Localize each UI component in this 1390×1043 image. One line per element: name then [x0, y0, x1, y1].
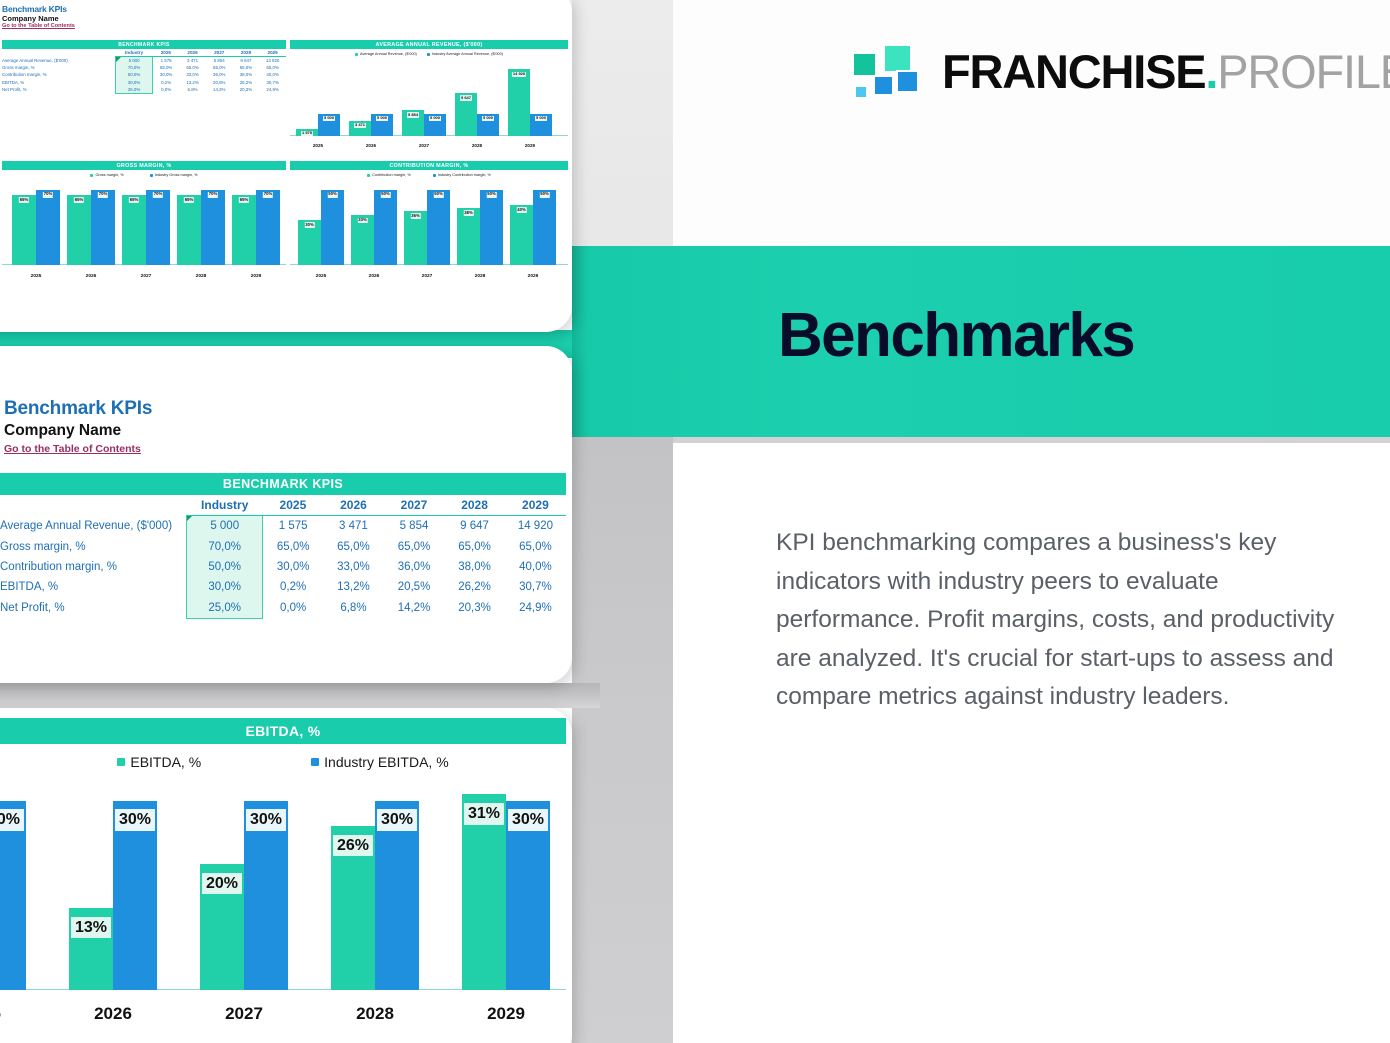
table-col-header-industry: Industry [116, 49, 153, 57]
table-cell-2025: 65,0% [263, 536, 324, 556]
chart-bar-company: 33% [351, 215, 374, 265]
table-col-header-2025: 2025 [153, 49, 180, 57]
chart-value-label: 50% [486, 192, 496, 198]
table-col-header-blank [2, 49, 116, 57]
legend-item-gross-industry: Industry Gross margin, % [150, 173, 198, 177]
chart-bar-company: 3 471 [349, 121, 371, 137]
table-cell-2028: 9 647 [233, 57, 260, 65]
body-paragraph: KPI benchmarking compares a business's k… [776, 524, 1348, 717]
table-cell-industry: 50,0% [187, 557, 263, 577]
sheet-subtitle: Company Name [4, 422, 152, 440]
background-white-right [673, 0, 1390, 246]
table-col-header-2027: 2027 [384, 495, 445, 516]
chart-category-label: 2027 [200, 1004, 288, 1024]
chart-value-label: 40% [516, 207, 526, 213]
chart-value-label: 38% [463, 210, 473, 216]
table-header-row: Industry20252026202720282029 [2, 49, 286, 57]
chart-bar-group: 30%50% [298, 181, 344, 265]
table-cell-2029: 24,9% [505, 598, 566, 619]
chart-bar-company: 14 920 [508, 69, 530, 136]
chart-bar-industry: 70% [91, 190, 115, 266]
chart-bar-company: 38% [457, 208, 480, 265]
chart-bar-industry: 70% [201, 190, 225, 266]
table-cell-industry: 30,0% [116, 79, 153, 86]
chart-bar-company: 20% [200, 864, 244, 990]
sheet-subtitle-mini: Company Name [2, 14, 75, 23]
table-row: EBITDA, %30,0%0,2%13,2%20,5%26,2%30,7% [2, 79, 286, 86]
table-row-label: Average Annual Revenue, ($'000) [2, 57, 116, 65]
table-row: Net Profit, %25,0%0,0%6,8%14,2%20,3%24,9… [2, 86, 286, 94]
table-row-label: EBITDA, % [0, 577, 187, 597]
table-cell-2026: 6,8% [323, 598, 384, 619]
logo-word-profiles: PROFILES [1217, 45, 1390, 98]
chart-bar-group: 0%30% [0, 784, 26, 990]
table-cell-2027: 20,5% [206, 79, 233, 86]
table-row-label: Gross margin, % [2, 64, 116, 71]
chart-value-label: 50% [433, 192, 443, 198]
table-cell-2029: 65,0% [259, 64, 286, 71]
chart-bar-company: 65% [122, 195, 146, 265]
table-row: Net Profit, %25,0%0,0%6,8%14,2%20,3%24,9… [0, 598, 566, 619]
chart-category-label: 2028 [177, 274, 225, 279]
table-cell-2026: 13,2% [323, 577, 384, 597]
chart-ebitda: EBITDA, % EBITDA, % Industry EBITDA, % 0… [0, 718, 566, 1043]
chart-value-label: 65% [19, 197, 29, 203]
table-cell-2026: 33,0% [323, 557, 384, 577]
table-cell-2029: 14 920 [259, 57, 286, 65]
table-header-row: Industry20252026202720282029 [0, 495, 566, 516]
table-col-header-2025: 2025 [263, 495, 324, 516]
chart-value-label: 13% [71, 917, 111, 939]
table-cell-2027: 20,5% [384, 577, 445, 597]
chart-bar-industry: 50% [374, 190, 397, 266]
chart-revenue-plot: 1 5755 00020253 4715 00020265 8545 00020… [290, 60, 568, 148]
chart-ebitda-plot: 0%30%202513%30%202620%30%202726%30%20283… [0, 784, 566, 1024]
chart-category-label: 2027 [404, 274, 450, 279]
chart-value-label: 70% [263, 192, 273, 198]
table-cell-2027: 36,0% [384, 557, 445, 577]
chart-value-label: 70% [208, 192, 218, 198]
logo-word-franchise: FRANCHISE [942, 45, 1205, 98]
franchise-profiles-logo: FRANCHISE.PROFILES [852, 44, 1390, 98]
table-col-header-2028: 2028 [233, 49, 260, 57]
chart-bar-group: 5 8545 000 [402, 60, 446, 136]
table-cell-2029: 65,0% [505, 536, 566, 556]
table-row: Average Annual Revenue, ($'000)5 0001 57… [0, 516, 566, 537]
table-col-header-2026: 2026 [323, 495, 384, 516]
sheet-title: Benchmark KPIs [4, 398, 152, 420]
table-cell-2028: 38,0% [444, 557, 505, 577]
chart-bar-industry: 50% [427, 190, 450, 266]
chart-category-label: 2029 [232, 274, 280, 279]
kpi-table-banner: BENCHMARK KPIS [0, 473, 566, 495]
table-row: Average Annual Revenue, ($'000)5 0001 57… [2, 57, 286, 65]
table-cell-2025: 1 575 [263, 516, 324, 537]
table-cell-industry: 5 000 [116, 57, 153, 65]
table-of-contents-link-mini[interactable]: Go to the Table of Contents [2, 23, 75, 29]
kpi-table-mini: Industry20252026202720282029 Average Ann… [2, 49, 286, 94]
table-row-label: EBITDA, % [2, 79, 116, 86]
table-col-header-2029: 2029 [505, 495, 566, 516]
chart-bar-company: 1 575 [296, 129, 318, 136]
chart-bar-company: 65% [232, 195, 256, 265]
table-cell-industry: 25,0% [187, 598, 263, 619]
table-body-mini: Average Annual Revenue, ($'000)5 0001 57… [2, 57, 286, 94]
chart-category-label: 2028 [455, 143, 499, 148]
table-cell-2026: 13,2% [179, 79, 206, 86]
table-cell-industry: 30,0% [187, 577, 263, 597]
chart-gross-margin-mini: GROSS MARGIN, % Gross margin, % Industry… [2, 161, 286, 301]
chart-bar-group: 20%30% [200, 784, 288, 990]
page-title: Benchmarks [778, 300, 1134, 371]
table-cell-2027: 14,2% [384, 598, 445, 619]
chart-bar-group: 13%30% [69, 784, 157, 990]
chart-category-label: 2026 [349, 143, 393, 148]
table-row: Contribution margin, %50,0%30,0%33,0%36,… [0, 557, 566, 577]
logo-wordmark: FRANCHISE.PROFILES [942, 48, 1390, 95]
teal-band-shadow [572, 246, 588, 437]
chart-bar-industry: 30% [0, 801, 26, 990]
chart-bar-group: 3 4715 000 [349, 60, 393, 136]
chart-value-label: 70% [43, 192, 53, 198]
chart-bar-company: 36% [404, 211, 427, 265]
chart-bar-group: 38%50% [457, 181, 503, 265]
legend-item-revenue-company: Average Annual Revenue, ($'000) [355, 52, 417, 56]
chart-bar-industry: 30% [113, 801, 157, 990]
table-cell-2025: 1 575 [153, 57, 180, 65]
screenshot-card-table: Benchmark KPIs Company Name Go to the Ta… [0, 346, 572, 683]
table-cell-2025: 0,2% [153, 79, 180, 86]
chart-gross-title: GROSS MARGIN, % [2, 161, 286, 170]
table-cell-industry: 70,0% [116, 64, 153, 71]
chart-bar-company: 65% [12, 195, 36, 265]
chart-value-label: 5 000 [376, 116, 388, 121]
chart-category-label: 2027 [122, 274, 170, 279]
chart-bar-company: 13% [69, 908, 113, 990]
card-table-inner: Benchmark KPIs Company Name Go to the Ta… [0, 346, 572, 683]
chart-value-label: 20% [202, 873, 242, 895]
screenshot-card-ebitda: EBITDA, % EBITDA, % Industry EBITDA, % 0… [0, 708, 572, 1043]
chart-category-label: 2026 [69, 1004, 157, 1024]
chart-bar-group: 9 6475 000 [455, 60, 499, 136]
chart-bar-industry: 70% [36, 190, 60, 266]
chart-bar-company: 5 854 [402, 110, 424, 136]
chart-bar-group: 65%70% [67, 181, 115, 265]
table-cell-2026: 3 471 [323, 516, 384, 537]
table-cell-2028: 9 647 [444, 516, 505, 537]
table-cell-2029: 40,0% [505, 557, 566, 577]
chart-value-label: 65% [184, 197, 194, 203]
chart-bar-industry: 70% [146, 190, 170, 266]
chart-value-label: 30% [508, 809, 548, 831]
chart-bar-group: 36%50% [404, 181, 450, 265]
kpi-table: Industry20252026202720282029 Average Ann… [0, 495, 566, 619]
chart-bar-industry: 50% [533, 190, 556, 266]
table-cell-2028: 20,3% [444, 598, 505, 619]
chart-bar-industry: 30% [375, 801, 419, 990]
chart-bar-industry: 30% [244, 801, 288, 990]
chart-bar-group: 1 5755 000 [296, 60, 340, 136]
table-cell-industry: 70,0% [187, 536, 263, 556]
table-row: Gross margin, %70,0%65,0%65,0%65,0%65,0%… [2, 64, 286, 71]
table-col-header-2028: 2028 [444, 495, 505, 516]
background-gray-lower [572, 437, 673, 1043]
chart-value-label: 50% [327, 192, 337, 198]
chart-category-label: 2029 [462, 1004, 550, 1024]
table-cell-2028: 26,2% [233, 79, 260, 86]
table-cell-2026: 3 471 [179, 57, 206, 65]
chart-category-label: 2025 [12, 274, 60, 279]
table-cell-2026: 65,0% [179, 64, 206, 71]
chart-revenue-title: AVERAGE ANNUAL REVENUE, ($'000) [290, 40, 568, 49]
chart-bar-group: 65%70% [232, 181, 280, 265]
legend-item-gross-company: Gross margin, % [90, 173, 123, 177]
chart-bar-group: 40%50% [510, 181, 556, 265]
chart-bar-industry: 70% [256, 190, 280, 266]
chart-category-label: 2028 [457, 274, 503, 279]
table-cell-2027: 5 854 [206, 57, 233, 65]
table-row-label: Gross margin, % [0, 536, 187, 556]
table-cell-2025: 0,0% [263, 598, 324, 619]
table-cell-2025: 0,0% [153, 86, 180, 94]
card-ebitda-inner: EBITDA, % EBITDA, % Industry EBITDA, % 0… [0, 708, 572, 1043]
table-cell-2028: 65,0% [233, 64, 260, 71]
chart-value-label: 70% [153, 192, 163, 198]
table-col-header-blank [0, 495, 187, 516]
chart-bar-group: 26%30% [331, 784, 419, 990]
chart-bar-industry: 50% [321, 190, 344, 266]
kpi-table-wrap: BENCHMARK KPIS Industry20252026202720282… [0, 473, 566, 619]
chart-category-label: 2028 [331, 1004, 419, 1024]
chart-bar-industry: 5 000 [318, 114, 340, 136]
chart-bar-industry: 50% [480, 190, 503, 266]
chart-revenue-mini: AVERAGE ANNUAL REVENUE, ($'000) Average … [290, 40, 568, 168]
chart-bar-company: 65% [177, 195, 201, 265]
kpi-table-banner-mini: BENCHMARK KPIS [2, 40, 286, 49]
chart-bar-group: 33%50% [351, 181, 397, 265]
legend-item-ebitda-company: EBITDA, % [117, 754, 201, 770]
table-row-label: Net Profit, % [2, 86, 116, 94]
legend-item-ebitda-industry: Industry EBITDA, % [311, 754, 448, 770]
table-row: Contribution margin, %50,0%30,0%33,0%36,… [2, 71, 286, 78]
table-row-label: Net Profit, % [0, 598, 187, 619]
chart-bar-industry: 30% [506, 801, 550, 990]
table-cell-2028: 38,0% [233, 71, 260, 78]
chart-contribution-mini: CONTRIBUTION MARGIN, % Contribution marg… [290, 161, 568, 301]
table-row-label: Contribution margin, % [0, 557, 187, 577]
table-cell-2028: 26,2% [444, 577, 505, 597]
chart-value-label: 30% [0, 809, 24, 831]
table-cell-2026: 65,0% [323, 536, 384, 556]
chart-category-label: 2029 [510, 274, 556, 279]
chart-bar-group: 65%70% [177, 181, 225, 265]
table-row: Gross margin, %70,0%65,0%65,0%65,0%65,0%… [0, 536, 566, 556]
table-body: Average Annual Revenue, ($'000)5 0001 57… [0, 516, 566, 619]
table-cell-2029: 14 920 [505, 516, 566, 537]
chart-value-label: 5 000 [535, 116, 547, 121]
table-cell-2025: 65,0% [153, 64, 180, 71]
logo-squares-icon [852, 44, 922, 98]
chart-value-label: 70% [98, 192, 108, 198]
chart-value-label: 50% [539, 192, 549, 198]
chart-value-label: 3 471 [354, 123, 366, 128]
chart-value-label: 5 854 [407, 112, 419, 117]
table-cell-2027: 14,2% [206, 86, 233, 94]
chart-contribution-title: CONTRIBUTION MARGIN, % [290, 161, 568, 170]
table-cell-2028: 20,3% [233, 86, 260, 94]
chart-value-label: 5 000 [429, 116, 441, 121]
table-cell-2027: 36,0% [206, 71, 233, 78]
table-cell-2027: 65,0% [206, 64, 233, 71]
gray-gap-strip [0, 683, 600, 708]
screenshot-card-top: Benchmark KPIs Company Name Go to the Ta… [0, 0, 572, 332]
table-cell-2026: 33,0% [179, 71, 206, 78]
logo-dot: . [1205, 45, 1217, 98]
table-cell-2028: 65,0% [444, 536, 505, 556]
table-of-contents-link[interactable]: Go to the Table of Contents [4, 443, 152, 455]
chart-bar-group: 65%70% [122, 181, 170, 265]
chart-bar-company: 40% [510, 205, 533, 265]
chart-bar-industry: 5 000 [371, 114, 393, 136]
chart-bar-company: 30% [298, 220, 321, 265]
chart-value-label: 36% [410, 213, 420, 219]
legend-item-revenue-industry: Industry Average Annual Revenue, ($'000) [427, 52, 503, 56]
chart-value-label: 50% [380, 192, 390, 198]
table-row-label: Average Annual Revenue, ($'000) [0, 516, 187, 537]
legend-item-contribution-company: Contribution margin, % [367, 173, 411, 177]
chart-value-label: 30% [377, 809, 417, 831]
chart-bar-industry: 5 000 [477, 114, 499, 136]
chart-bar-industry: 5 000 [424, 114, 446, 136]
card-top-inner: Benchmark KPIs Company Name Go to the Ta… [0, 0, 572, 332]
chart-gross-plot: 65%70%202565%70%202665%70%202765%70%2028… [2, 181, 286, 279]
table-cell-2027: 5 854 [384, 516, 445, 537]
sheet-title-mini: Benchmark KPIs [2, 4, 75, 14]
table-cell-2026: 6,8% [179, 86, 206, 94]
chart-bar-company: 26% [331, 826, 375, 990]
chart-value-label: 65% [239, 197, 249, 203]
chart-bar-company: 65% [67, 195, 91, 265]
chart-category-label: 2025 [296, 143, 340, 148]
chart-value-label: 65% [129, 197, 139, 203]
table-cell-2025: 0,2% [263, 577, 324, 597]
chart-value-label: 1 575 [301, 131, 313, 136]
chart-value-label: 9 647 [460, 95, 472, 100]
chart-ebitda-title: EBITDA, % [0, 718, 566, 744]
background-gray-strip [673, 437, 1390, 443]
chart-value-label: 30% [246, 809, 286, 831]
table-col-header-2027: 2027 [206, 49, 233, 57]
chart-value-label: 14 920 [512, 72, 526, 77]
chart-category-label: 2027 [402, 143, 446, 148]
table-row-label: Contribution margin, % [2, 71, 116, 78]
chart-bar-industry: 5 000 [530, 114, 552, 136]
chart-contribution-plot: 30%50%202533%50%202636%50%202738%50%2028… [290, 181, 568, 279]
table-cell-2029: 30,7% [259, 79, 286, 86]
legend-item-contribution-industry: Industry Contribution margin, % [433, 173, 491, 177]
chart-bar-group: 65%70% [12, 181, 60, 265]
chart-bar-group: 14 9205 000 [508, 60, 552, 136]
table-cell-industry: 25,0% [116, 86, 153, 94]
chart-value-label: 65% [74, 197, 84, 203]
table-cell-industry: 50,0% [116, 71, 153, 78]
chart-category-label: 2025 [298, 274, 344, 279]
chart-category-label: 2026 [67, 274, 115, 279]
chart-bar-company: 9 647 [455, 93, 477, 136]
table-cell-2025: 30,0% [263, 557, 324, 577]
table-cell-2027: 65,0% [384, 536, 445, 556]
chart-value-label: 31% [464, 803, 504, 825]
kpi-table-mini-wrap: BENCHMARK KPIS Industry20252026202720282… [2, 40, 286, 94]
table-cell-2025: 30,0% [153, 71, 180, 78]
chart-bar-company: 31% [462, 794, 506, 990]
chart-value-label: 33% [357, 218, 367, 224]
slide-canvas: Benchmark KPIs Company Name Go to the Ta… [0, 0, 1390, 1043]
chart-value-label: 5 000 [323, 116, 335, 121]
table-col-header-industry: Industry [187, 495, 263, 516]
table-cell-industry: 5 000 [187, 516, 263, 537]
chart-category-label: 2025 [0, 1004, 26, 1024]
table-cell-2029: 30,7% [505, 577, 566, 597]
table-cell-2029: 40,0% [259, 71, 286, 78]
chart-category-label: 2029 [508, 143, 552, 148]
chart-category-label: 2026 [351, 274, 397, 279]
chart-bar-group: 31%30% [462, 784, 550, 990]
table-col-header-2029: 2029 [259, 49, 286, 57]
table-col-header-2026: 2026 [179, 49, 206, 57]
table-row: EBITDA, %30,0%0,2%13,2%20,5%26,2%30,7% [0, 577, 566, 597]
chart-value-label: 30% [115, 809, 155, 831]
chart-value-label: 26% [333, 835, 373, 857]
chart-value-label: 30% [304, 222, 314, 228]
table-cell-2029: 24,9% [259, 86, 286, 94]
chart-value-label: 5 000 [482, 116, 494, 121]
